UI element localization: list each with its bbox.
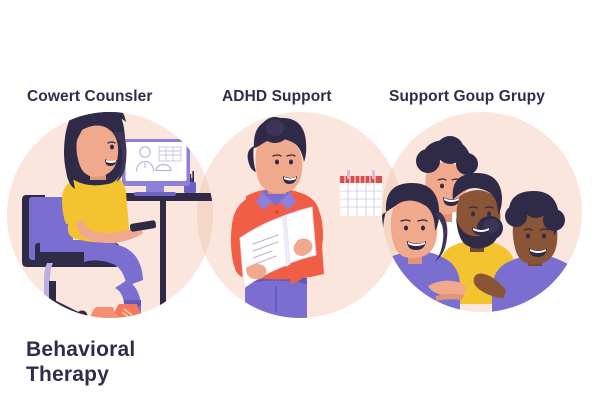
- wall-calendar: [340, 170, 382, 216]
- page-title: Behavioral Therapy: [26, 337, 135, 387]
- illustration-canvas: Cowert Counsler ADHD Support Support Gou…: [0, 0, 600, 420]
- panel-label-group: Support Goup Grupy: [389, 88, 545, 106]
- panel-label-teletherapy: Cowert Counsler: [27, 88, 153, 106]
- panel-label-adhd: ADHD Support: [222, 88, 332, 106]
